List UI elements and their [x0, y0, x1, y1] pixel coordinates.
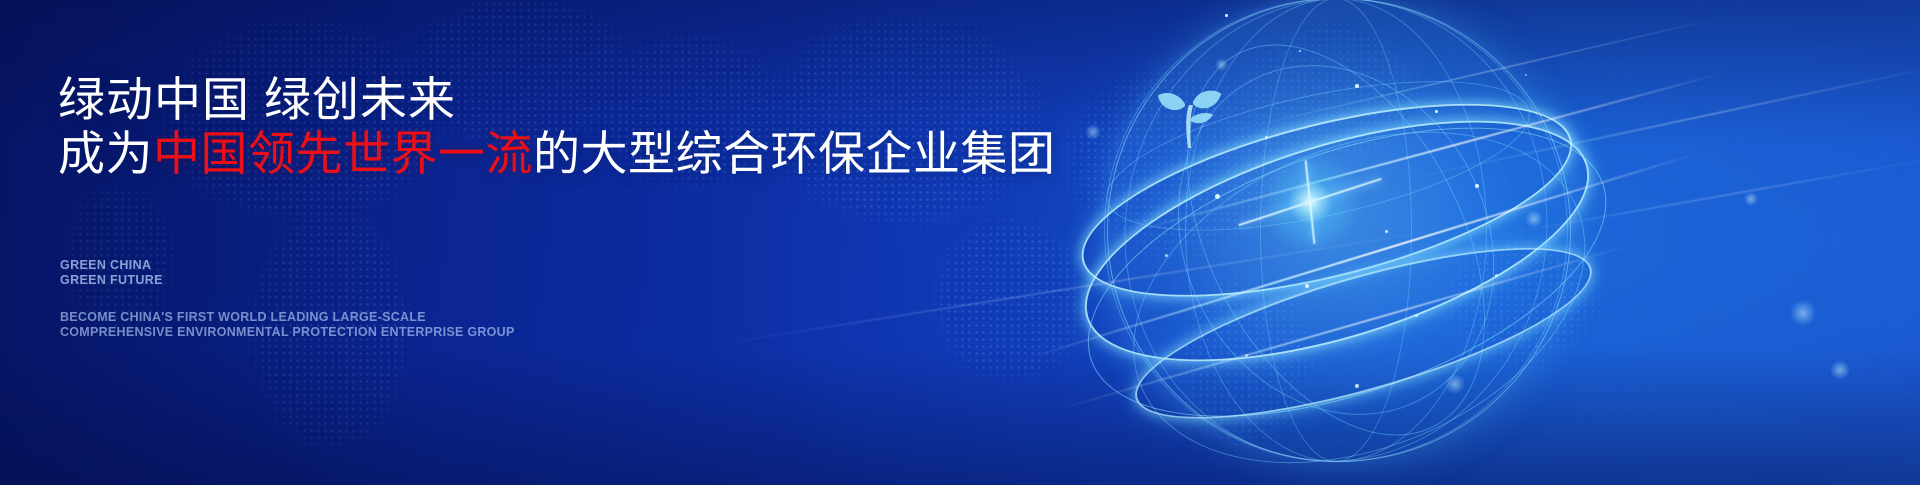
- banner-content: 绿动中国 绿创未来 成为中国领先世界一流的大型综合环保企业集团 GREEN CH…: [0, 0, 1060, 485]
- star-particle: [1435, 110, 1438, 113]
- tagline-block: GREEN CHINA GREEN FUTURE: [60, 258, 163, 288]
- star-particle: [1355, 84, 1359, 88]
- subtitle-line-2: COMPREHENSIVE ENVIRONMENTAL PROTECTION E…: [60, 325, 515, 340]
- star-particle: [1475, 184, 1479, 188]
- bokeh-light: [1525, 210, 1543, 228]
- star-particle: [1305, 284, 1309, 288]
- star-particle: [1415, 314, 1418, 317]
- bokeh-light: [1445, 374, 1465, 394]
- headline-line-1: 绿动中国 绿创未来: [58, 73, 1038, 127]
- headline-line-2-suffix: 的大型综合环保企业集团: [533, 127, 1056, 180]
- bokeh-light: [1830, 360, 1850, 380]
- tagline-line-2: GREEN FUTURE: [60, 273, 163, 288]
- star-particle: [1225, 14, 1228, 17]
- subtitle-block: BECOME CHINA'S FIRST WORLD LEADING LARGE…: [60, 310, 515, 340]
- bokeh-light: [1085, 124, 1101, 140]
- headline-block: 绿动中国 绿创未来 成为中国领先世界一流的大型综合环保企业集团: [58, 73, 1038, 181]
- tagline-line-1: GREEN CHINA: [60, 258, 163, 273]
- star-particle: [1495, 274, 1498, 277]
- star-particle: [1215, 194, 1220, 199]
- bokeh-light: [1790, 300, 1816, 326]
- headline-line-2: 成为中国领先世界一流的大型综合环保企业集团: [58, 127, 1038, 181]
- subtitle-line-1: BECOME CHINA'S FIRST WORLD LEADING LARGE…: [60, 310, 515, 325]
- hero-banner: 绿动中国 绿创未来 成为中国领先世界一流的大型综合环保企业集团 GREEN CH…: [0, 0, 1920, 485]
- bokeh-light: [1215, 58, 1228, 71]
- sprout-leaf-icon: [1155, 84, 1227, 150]
- headline-line-2-prefix: 成为: [58, 127, 153, 180]
- headline-line-2-highlight: 中国领先世界一流: [153, 127, 533, 180]
- star-particle: [1299, 50, 1301, 52]
- star-particle: [1525, 74, 1527, 76]
- star-particle: [1355, 384, 1359, 388]
- star-particle: [1265, 136, 1268, 139]
- star-particle: [1385, 230, 1388, 233]
- star-particle: [1245, 354, 1248, 357]
- star-particle: [1165, 254, 1168, 257]
- bokeh-light: [1744, 192, 1758, 206]
- globe-graphic: [1055, 0, 1615, 485]
